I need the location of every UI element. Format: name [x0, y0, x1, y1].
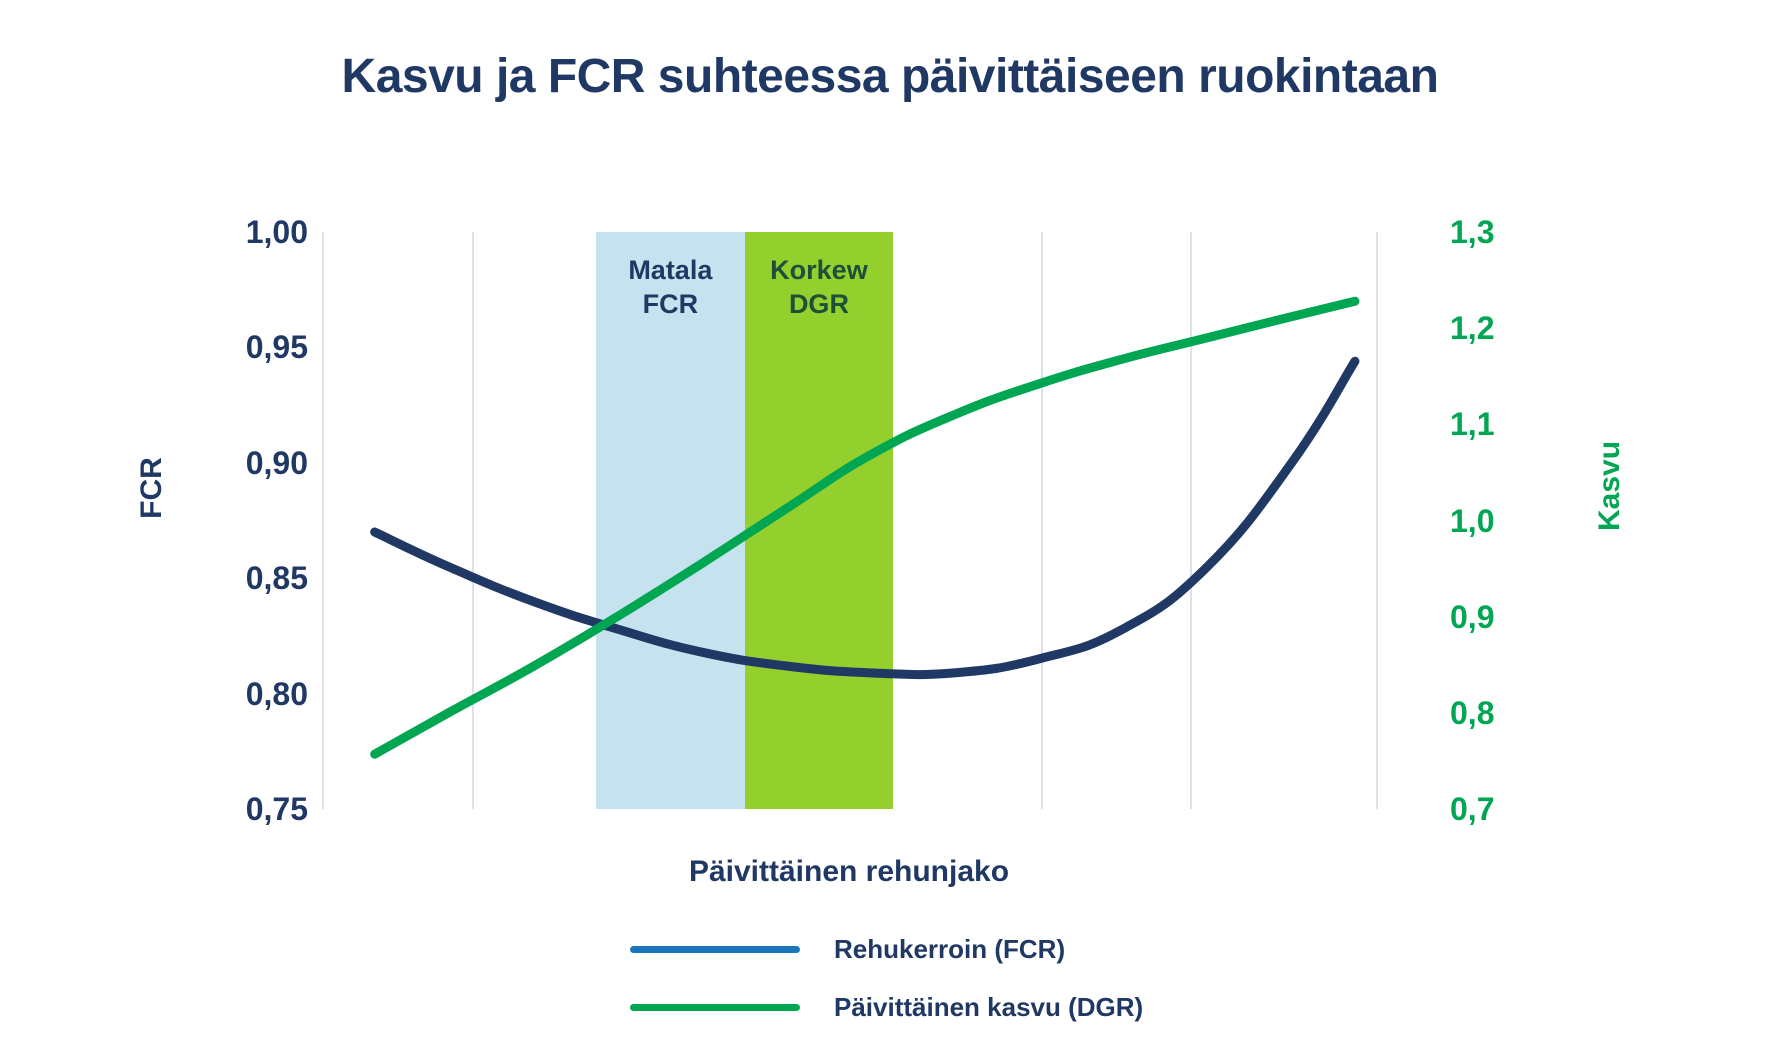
- y-axis-left-tick: 0,90: [188, 447, 308, 479]
- y-axis-right-tick: 1,2: [1450, 312, 1570, 344]
- chart-title: Kasvu ja FCR suhteessa päivittäiseen ruo…: [240, 48, 1540, 106]
- y-axis-right: 1,3 1,2 1,1 1,0 0,9 0,8 0,7: [1450, 232, 1570, 809]
- gridline: [1376, 232, 1378, 809]
- y-axis-right-tick: 1,1: [1450, 408, 1570, 440]
- y-axis-right-tick: 1,0: [1450, 505, 1570, 537]
- plot-area: Matala FCR Korkew DGR: [322, 232, 1376, 809]
- y-axis-right-tick: 0,8: [1450, 697, 1570, 729]
- legend-line-swatch-fcr: [630, 946, 800, 953]
- legend-line-swatch-dgr: [630, 1004, 800, 1011]
- y-axis-right-title: Kasvu: [1593, 441, 1627, 531]
- legend-label-fcr: Rehukerroin (FCR): [834, 934, 1065, 965]
- y-axis-right-tick: 0,7: [1450, 793, 1570, 825]
- y-axis-right-tick: 0,9: [1450, 601, 1570, 633]
- y-axis-left-tick: 1,00: [188, 216, 308, 248]
- x-axis-title: Päivittäinen rehunjako: [322, 855, 1376, 889]
- legend-label-dgr: Päivittäinen kasvu (DGR): [834, 992, 1143, 1023]
- series-line: [375, 361, 1355, 674]
- y-axis-left-tick: 0,75: [188, 793, 308, 825]
- y-axis-left-tick: 0,80: [188, 678, 308, 710]
- legend-item-fcr[interactable]: Rehukerroin (FCR): [322, 920, 1376, 978]
- y-axis-left-tick: 0,85: [188, 562, 308, 594]
- chart-legend: Rehukerroin (FCR) Päivittäinen kasvu (DG…: [322, 920, 1376, 1036]
- y-axis-left-tick: 0,95: [188, 331, 308, 363]
- y-axis-right-tick: 1,3: [1450, 216, 1570, 248]
- series-lines: [322, 232, 1376, 809]
- y-axis-left: 1,00 0,95 0,90 0,85 0,80 0,75: [188, 232, 308, 809]
- chart-container: Kasvu ja FCR suhteessa päivittäiseen ruo…: [0, 0, 1783, 1049]
- legend-item-dgr[interactable]: Päivittäinen kasvu (DGR): [322, 978, 1376, 1036]
- y-axis-left-title: FCR: [135, 457, 169, 519]
- series-line: [375, 301, 1355, 754]
